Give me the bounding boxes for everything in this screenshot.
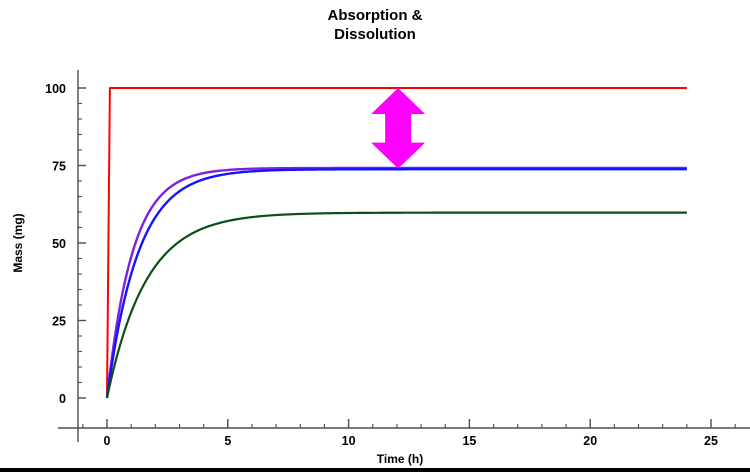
x-tick-label: 5 (224, 434, 231, 448)
x-tick-label: 0 (104, 434, 111, 448)
y-axis: 0255075100 (45, 70, 86, 442)
chart-title-line-1: Absorption & (328, 7, 423, 24)
y-tick-label: 75 (52, 160, 66, 174)
chart-figure: Absorption & Dissolution 0255075100 0510… (0, 0, 750, 472)
annotation-layer (371, 88, 425, 169)
x-tick-label: 20 (583, 434, 597, 448)
y-axis-label: Mass (mg) (11, 213, 25, 272)
x-tick-label: 15 (462, 434, 476, 448)
x-axis-label: Time (h) (377, 452, 423, 466)
series-line-dissolved (107, 213, 687, 398)
x-tick-label: 25 (704, 434, 718, 448)
absorption-dissolution-chart: Absorption & Dissolution 0255075100 0510… (0, 0, 750, 472)
y-tick-label: 0 (59, 392, 66, 406)
series-line-absorbed-slow (107, 169, 687, 398)
y-tick-label: 100 (45, 82, 66, 96)
x-axis: 0510152025 (58, 419, 750, 448)
series-line-absorbed-fast (107, 168, 687, 398)
x-tick-label: 10 (342, 434, 356, 448)
y-tick-label: 25 (52, 315, 66, 329)
chart-title-line-2: Dissolution (334, 26, 416, 43)
bioavailability-gap-arrow (371, 88, 425, 169)
y-tick-label: 50 (52, 237, 66, 251)
